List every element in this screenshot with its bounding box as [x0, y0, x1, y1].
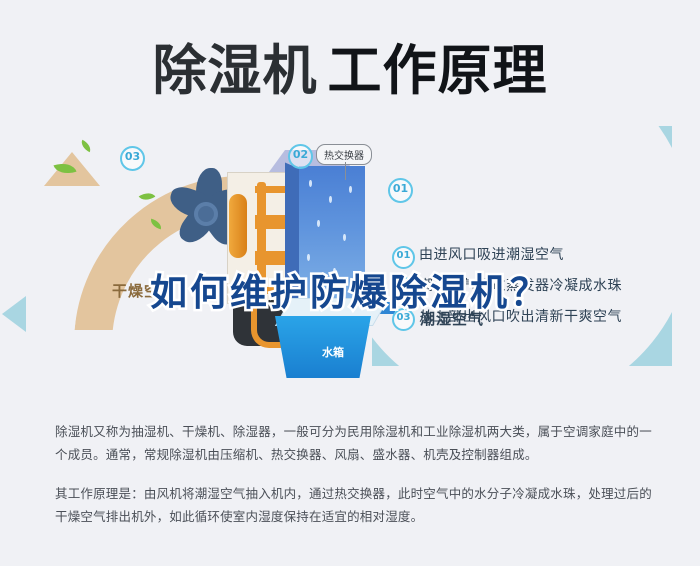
heat-exchanger-tag-stem [345, 162, 346, 180]
article-body: 除湿机又称为抽湿机、干燥机、除湿器，一般可分为民用除湿机和工业除湿机两大类，属于… [55, 420, 655, 529]
infographic-page: 除湿机工作原理 [0, 0, 700, 566]
page-title-part-a: 除湿机 [153, 39, 318, 102]
callout-badge-02: 02 [288, 144, 313, 169]
fan-hub [194, 202, 218, 226]
condensate-drop [329, 196, 332, 203]
water-tank-label: 水箱 [303, 344, 363, 360]
condensate-drop [307, 254, 310, 261]
callout-badge-03: 03 [120, 146, 145, 171]
body-paragraph-2: 其工作原理是：由风机将潮湿空气抽入机内，通过热交换器，此时空气中的水分子冷凝成水… [55, 482, 655, 528]
condensate-drop [309, 180, 312, 187]
heat-exchanger-tag: 热交换器 [316, 144, 372, 165]
callout-badge-01: 01 [388, 178, 413, 203]
page-title: 除湿机工作原理 [0, 26, 700, 105]
condensate-drop [317, 220, 320, 227]
condensate-drop [349, 186, 352, 193]
body-paragraph-1: 除湿机又称为抽湿机、干燥机、除湿器，一般可分为民用除湿机和工业除湿机两大类，属于… [55, 420, 655, 466]
overlay-headline: 如何维护防爆除湿机？ [0, 262, 700, 316]
dehumidifier-unit: 水箱 [225, 148, 385, 363]
page-title-part-b: 工作原理 [328, 39, 548, 102]
compressor-cylinder [229, 194, 247, 258]
legend-text-01: 由进风口吸进潮湿空气 [419, 244, 564, 264]
condensate-drop [343, 234, 346, 241]
